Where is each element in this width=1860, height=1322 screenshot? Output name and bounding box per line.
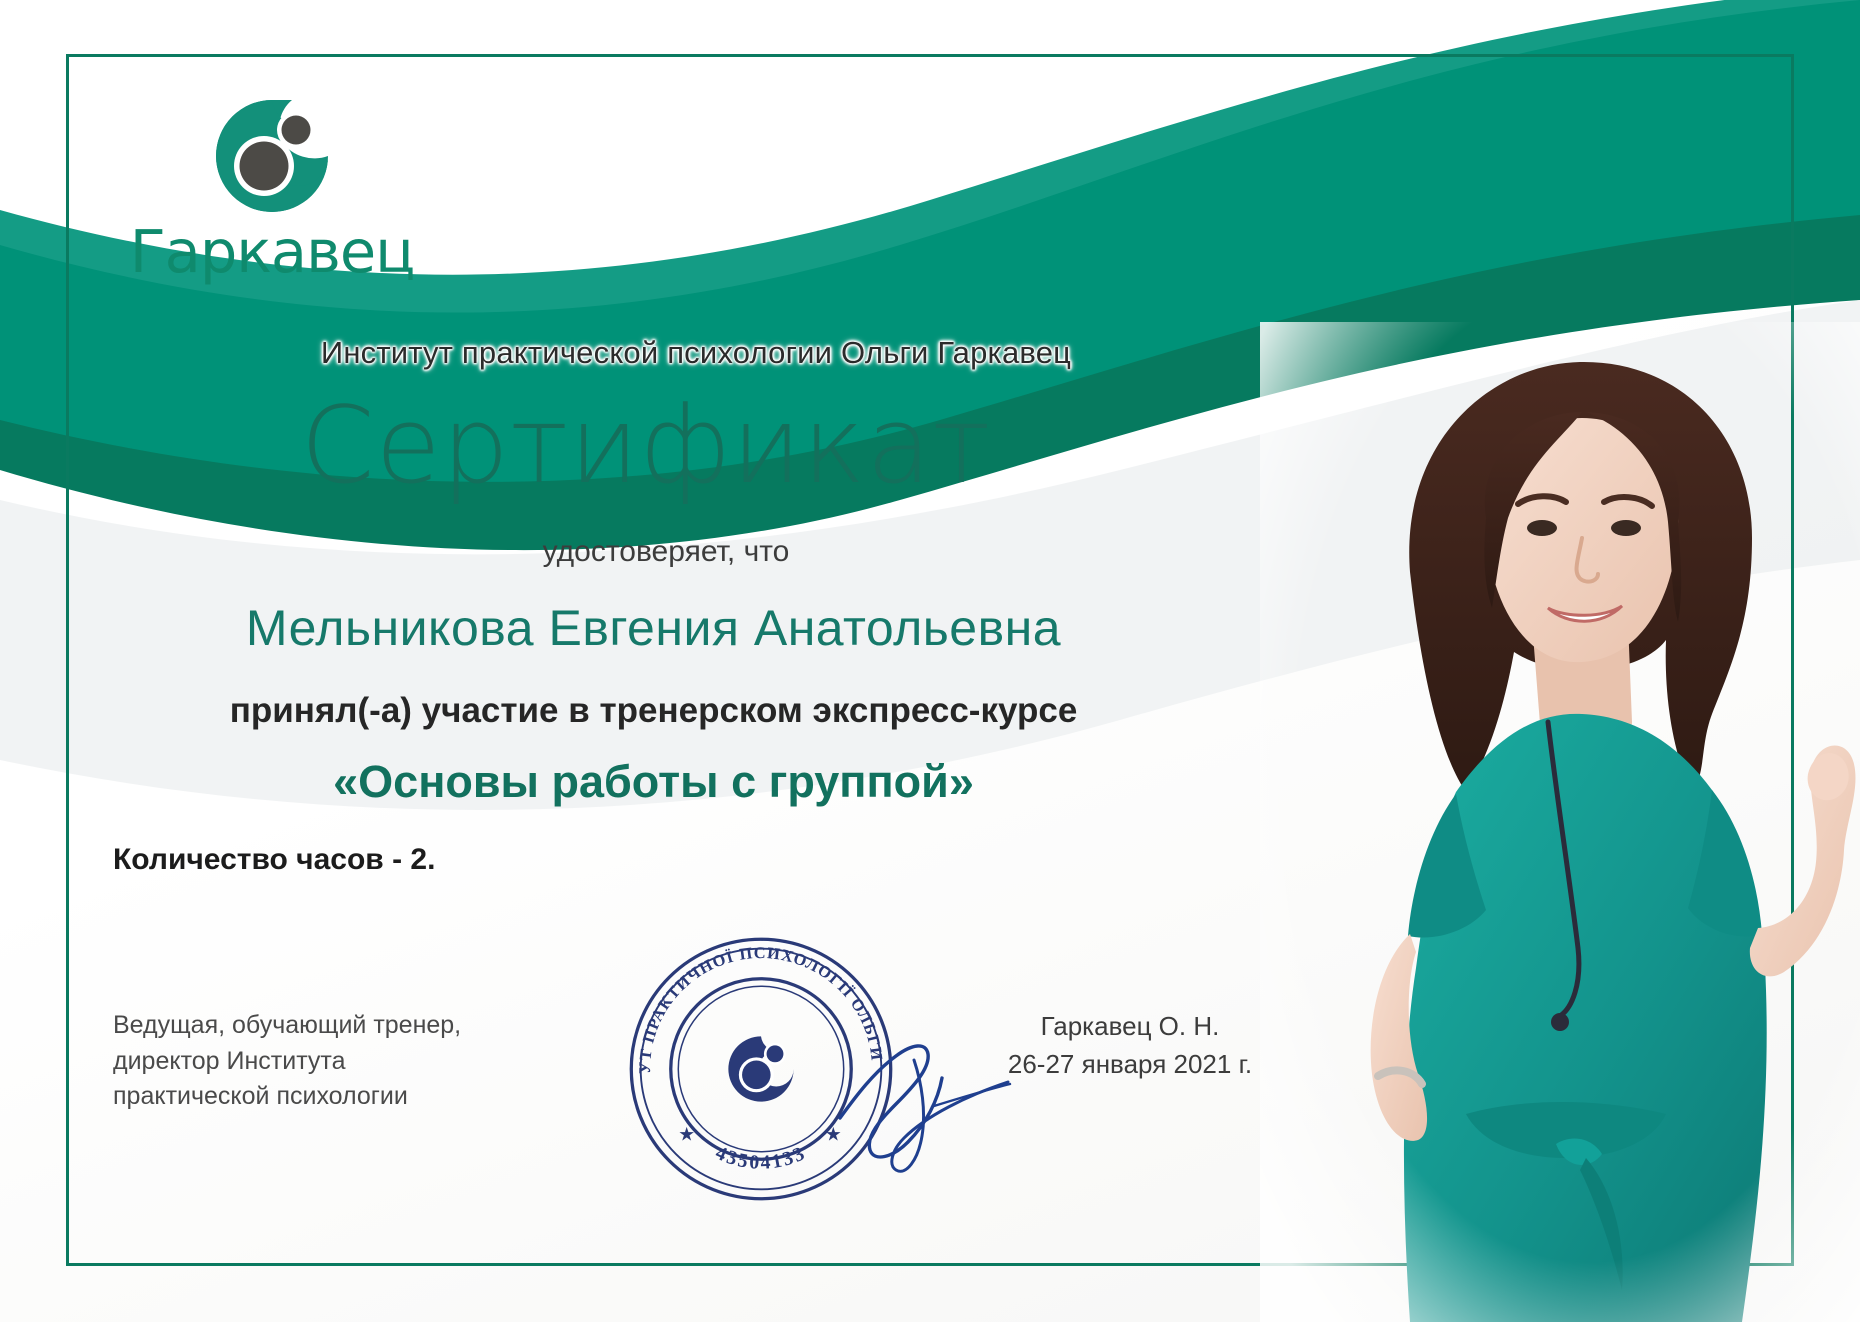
necklace-pendant [1551,1013,1569,1031]
certifies-label: удостоверяет, что [66,535,1266,569]
arm-thumbs-up [1750,745,1856,976]
svg-text:43504133: 43504133 [712,1142,810,1174]
eye-right [1611,520,1641,536]
dress-sleeve-right [1688,790,1762,936]
signer-role-line-3: практической психологии [113,1079,461,1115]
certificate: Гаркавец Институт практической психологи… [0,0,1860,1322]
neck-shape [1532,622,1632,743]
nose-shape [1577,538,1598,582]
institute-subtitle: Институт практической психологии Ольги Г… [66,335,1326,371]
eyebrow-left [1518,496,1566,504]
seal-center-icon [728,1036,793,1101]
seal-star-left: ★ [678,1124,695,1145]
seal-registration-number: 43504133 [712,1142,810,1174]
trainer-photo [1260,322,1860,1322]
signer-role: Ведущая, обучающий тренер, директор Инст… [113,1008,461,1115]
thumb-shape [1808,753,1849,800]
handwritten-signature [830,1000,1050,1190]
hours-line: Количество часов - 2. [113,843,435,877]
arm-on-hip [1371,934,1427,1141]
participation-line: принял(-а) участие в тренерском экспресс… [66,691,1241,731]
logo-icon [212,96,332,216]
course-title: «Основы работы с группой» [66,756,1241,808]
page-title: Сертификат [66,387,1226,506]
recipient-name: Мельникова Евгения Анатольевна [66,599,1241,657]
waist-tie [1466,1102,1666,1158]
mouth-shape [1548,606,1622,621]
hair-shape [1409,362,1752,792]
logo-wordmark: Гаркавец [112,222,432,281]
waist-tie-knot [1556,1139,1602,1165]
brand-logo: Гаркавец [112,96,432,281]
hair-front-left [1484,412,1582,608]
dress-shape [1404,714,1767,1322]
signer-role-line-2: директор Института [113,1044,461,1080]
waist-tie-tail [1580,1158,1623,1290]
bracelet-shape [1378,1070,1422,1084]
dress-sleeve-left [1408,794,1486,938]
eyebrow-right [1604,497,1652,506]
eye-left [1527,520,1557,536]
svg-text:★: ★ [678,1124,695,1145]
necklace-shape [1548,722,1579,1016]
signer-role-line-1: Ведущая, обучающий тренер, [113,1008,461,1044]
hair-front-right [1586,412,1681,622]
face-shape [1486,418,1678,662]
